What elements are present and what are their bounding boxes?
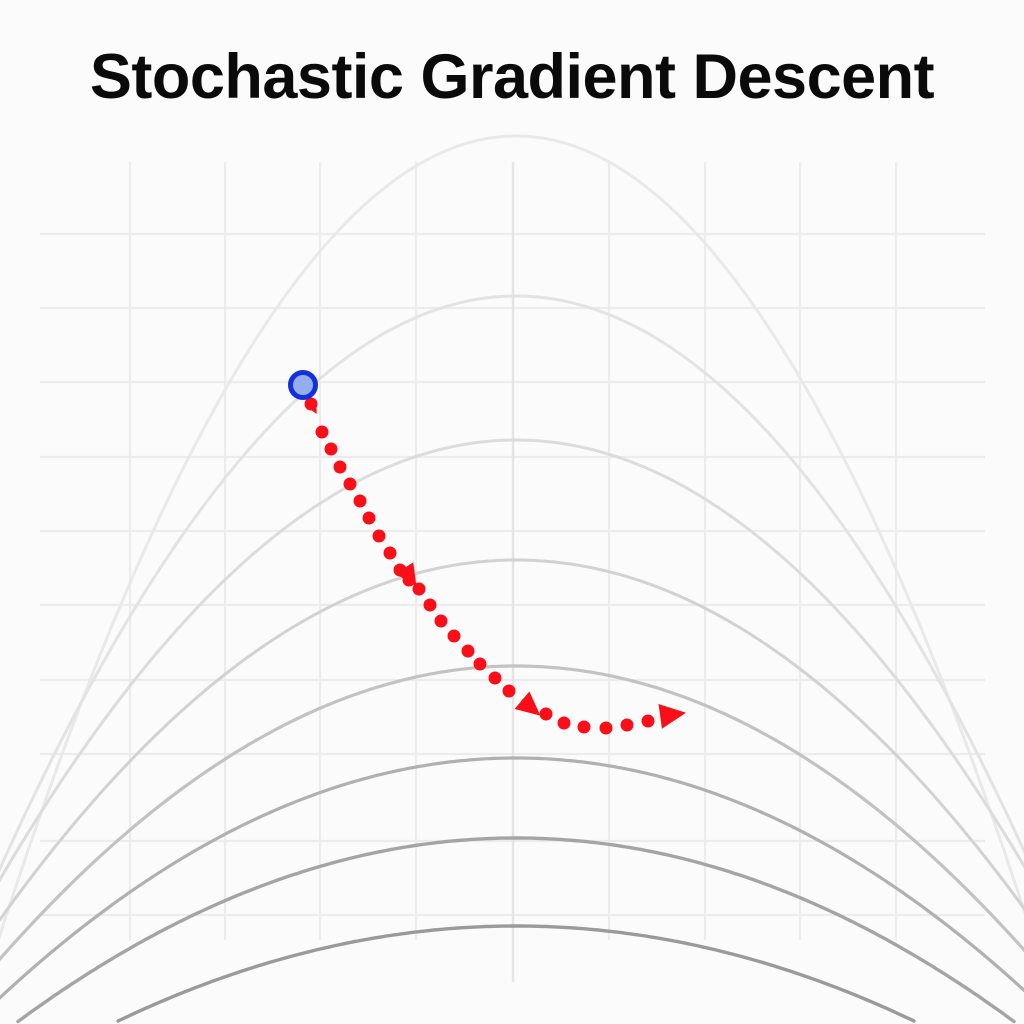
trajectory-dot bbox=[363, 512, 376, 525]
start-marker-layer bbox=[291, 373, 316, 398]
contour-plot-canvas bbox=[0, 0, 1024, 1024]
trajectory-dot bbox=[600, 722, 613, 735]
trajectory-dot bbox=[325, 443, 338, 456]
trajectory-dot bbox=[489, 672, 502, 685]
trajectory-dot bbox=[503, 685, 516, 698]
trajectory-dot bbox=[540, 708, 553, 721]
trajectory-dot bbox=[448, 630, 461, 643]
trajectory-dot bbox=[316, 426, 329, 439]
trajectory-dot bbox=[578, 721, 591, 734]
trajectory-dot bbox=[334, 461, 347, 474]
start-point-marker bbox=[291, 373, 316, 398]
contour-level-7 bbox=[118, 926, 914, 1021]
trajectory-dot bbox=[384, 547, 397, 560]
trajectory-dot bbox=[474, 658, 487, 671]
trajectory-dot bbox=[344, 478, 357, 491]
trajectory-dot bbox=[621, 719, 634, 732]
trajectory-layer bbox=[305, 398, 688, 735]
trajectory-dot bbox=[354, 495, 367, 508]
sgd-visualization-figure: Stochastic Gradient Descent bbox=[0, 0, 1024, 1024]
trajectory-dot bbox=[435, 615, 448, 628]
trajectory-arrow-icon bbox=[658, 700, 687, 728]
trajectory-dot bbox=[462, 645, 475, 658]
trajectory-dot bbox=[558, 717, 571, 730]
trajectory-dot bbox=[424, 599, 437, 612]
trajectory-dot bbox=[373, 530, 386, 543]
trajectory-dot bbox=[642, 715, 655, 728]
